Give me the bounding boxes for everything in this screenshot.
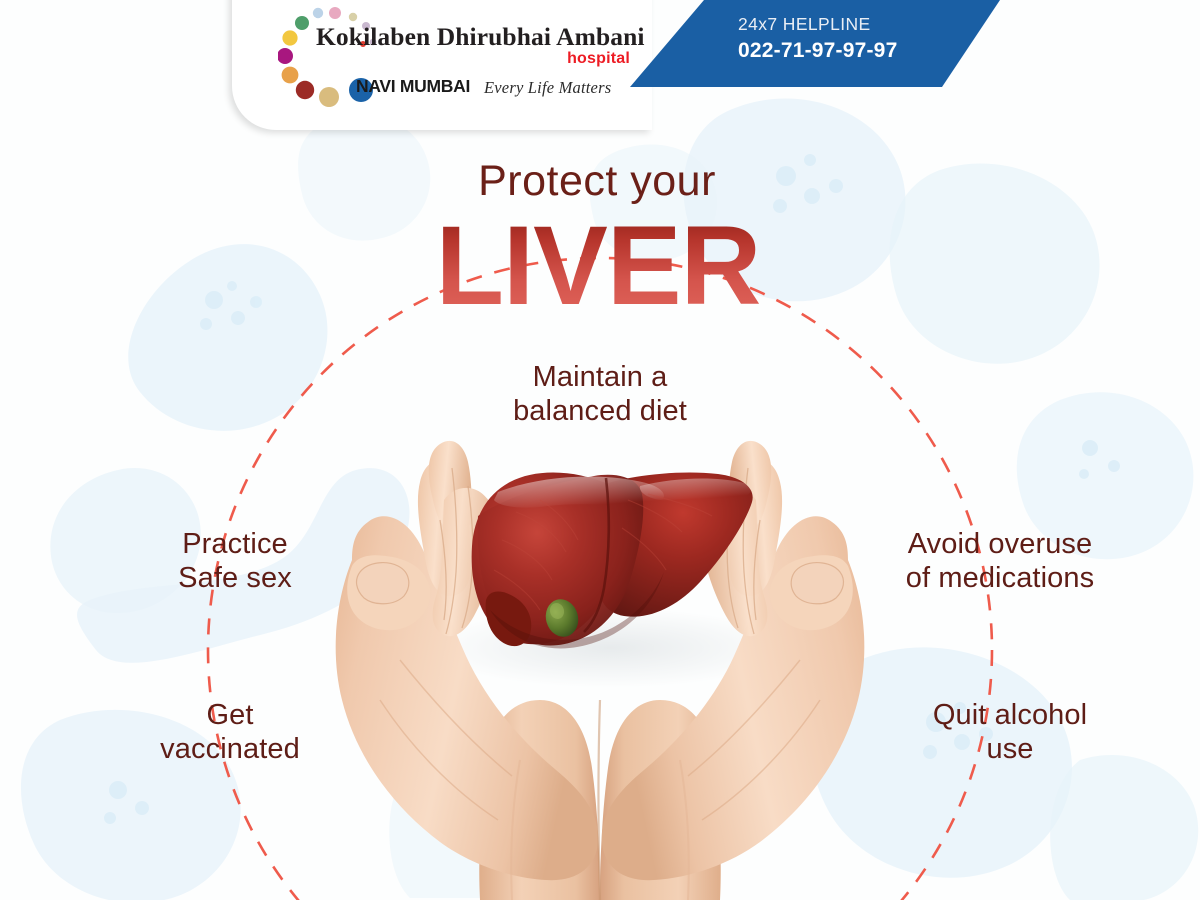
tip-practice-safe-sex: Practice Safe sex [120, 527, 350, 595]
logo-hospital-name: Kokilaben Dhirubhai Ambani [316, 22, 645, 52]
tip-maintain-balanced-diet: Maintain a balanced diet [450, 360, 750, 428]
helpline-label: 24x7 HELPLINE [738, 12, 968, 37]
title-line-liver: LIVER [436, 209, 761, 323]
hospital-logo[interactable]: Kokilaben Dhirubhai Ambani hospital NAVI… [278, 4, 638, 120]
tip-avoid-overuse-of-medications: Avoid overuse of medications [870, 527, 1130, 595]
title-line-protect-your: Protect your [0, 160, 1200, 203]
logo-city: NAVI MUMBAI [356, 76, 470, 97]
tip-get-vaccinated: Get vaccinated [110, 698, 350, 766]
helpline-number[interactable]: 022-71-97-97-97 [738, 37, 968, 65]
infographic-canvas: 24x7 HELPLINE 022-71-97-97-97 [0, 0, 1200, 900]
header: 24x7 HELPLINE 022-71-97-97-97 [0, 0, 1200, 135]
helpline-banner[interactable]: 24x7 HELPLINE 022-71-97-97-97 [630, 0, 1000, 87]
logo-hospital-word: hospital [567, 50, 630, 68]
tip-quit-alcohol-use: Quit alcohol use [890, 698, 1130, 766]
logo-wordmark: Kokilaben Dhirubhai Ambani hospital NAVI… [316, 22, 636, 114]
page-title: Protect your LIVER [0, 160, 1200, 323]
logo-tagline: Every Life Matters [484, 78, 611, 98]
